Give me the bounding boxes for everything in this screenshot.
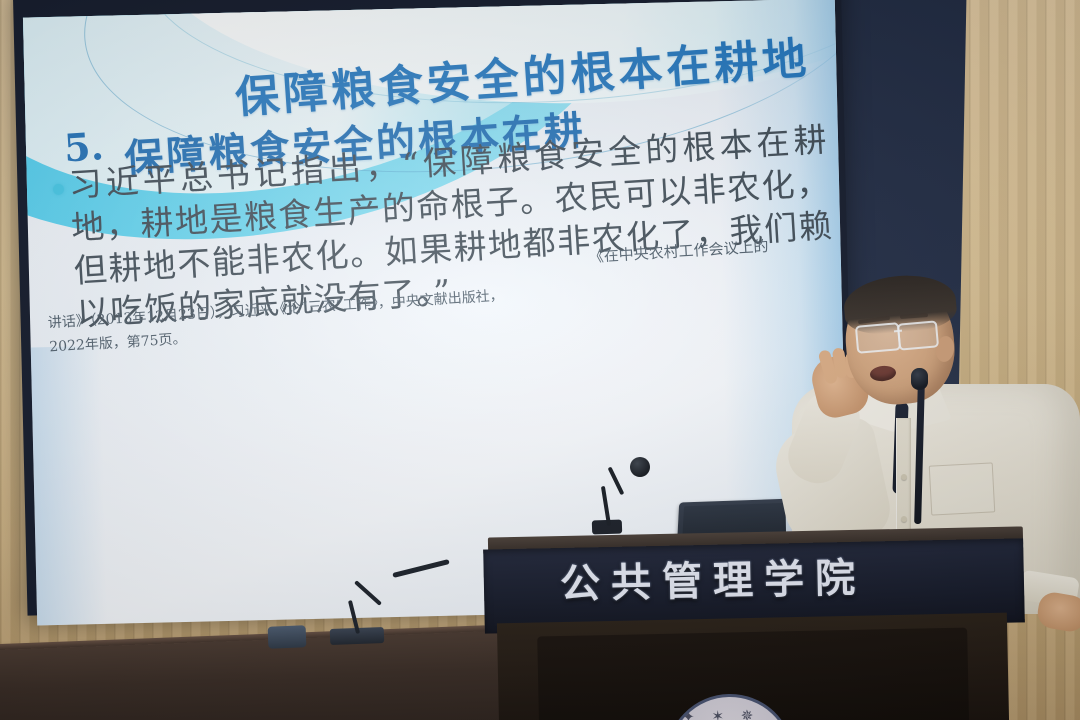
podium-label: 公共管理学院	[559, 544, 920, 610]
table-device	[268, 625, 307, 648]
crest-marks: ✦ ✶ ✵	[682, 706, 779, 720]
speaker-shirt-pocket	[929, 462, 996, 515]
shirt-button	[901, 516, 907, 522]
eyeglasses-lens-left	[855, 322, 901, 354]
eyeglasses-lens-right	[897, 320, 939, 350]
shirt-button	[901, 474, 907, 480]
gooseneck-microphone-head	[630, 457, 650, 477]
floor-microphone-head	[911, 368, 928, 390]
lecture-hall-photo: 保障粮食安全的根本在耕地 5. 保障粮食安全的根本在耕 习近平总书记指出，“保障…	[0, 0, 1080, 720]
bullet-icon	[53, 184, 65, 196]
